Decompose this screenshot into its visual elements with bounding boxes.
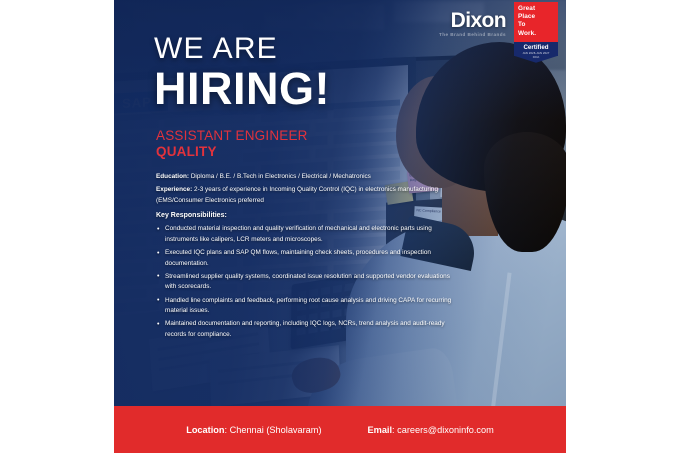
list-item: Conducted material inspection and qualit…	[156, 224, 456, 245]
brand-name: Dixon	[439, 10, 506, 31]
company-logo: Dixon The Brand Behind Brands	[439, 10, 506, 38]
email-label: Email	[368, 425, 393, 435]
job-title-line-2: QUALITY	[156, 144, 308, 160]
location-value: : Chennai (Sholavaram)	[224, 425, 321, 435]
responsibilities-title: Key Responsibilities:	[156, 210, 456, 221]
location-info: Location: Chennai (Sholavaram)	[186, 425, 321, 435]
gptw-certification-date: JAN 2026-JAN 2027	[514, 52, 558, 56]
gptw-line-3: To	[518, 21, 554, 29]
gptw-line-2: Place	[518, 13, 554, 21]
list-item: Maintained documentation and reporting, …	[156, 319, 456, 340]
experience-label: Experience:	[156, 186, 192, 193]
job-title-line-1: ASSISTANT ENGINEER	[156, 128, 308, 144]
great-place-to-work-badge: Great Place To Work. Certified JAN 2026-…	[514, 2, 558, 63]
experience-value: 2-3 years of experience in Incoming Qual…	[156, 186, 438, 203]
email-value[interactable]: : careers@dixoninfo.com	[392, 425, 494, 435]
headline-block: WE ARE HIRING!	[154, 34, 330, 112]
gptw-certified-label: Certified	[514, 42, 558, 52]
job-details: Education: Diploma / B.E. / B.Tech in El…	[156, 172, 456, 343]
headline-hiring: HIRING!	[154, 66, 330, 112]
gptw-badge-top: Great Place To Work.	[514, 2, 558, 42]
gptw-country-label: INDIA	[514, 56, 558, 63]
list-item: Streamlined supplier quality systems, co…	[156, 272, 456, 293]
gptw-line-1: Great	[518, 5, 554, 13]
location-label: Location	[186, 425, 224, 435]
job-title-block: ASSISTANT ENGINEER QUALITY	[156, 128, 308, 160]
list-item: Handled line complaints and feedback, pe…	[156, 296, 456, 317]
experience-row: Experience: 2-3 years of experience in I…	[156, 185, 456, 206]
responsibilities-list: Conducted material inspection and qualit…	[156, 224, 456, 340]
education-label: Education:	[156, 173, 189, 180]
contact-footer: Location: Chennai (Sholavaram) Email: ca…	[114, 406, 566, 453]
hiring-poster: SAP CN Log ECN Physical Register ECN Rep…	[114, 0, 566, 453]
education-value: Diploma / B.E. / B.Tech in Electronics /…	[191, 173, 371, 180]
brand-tagline: The Brand Behind Brands	[439, 33, 506, 38]
gptw-line-4: Work.	[518, 30, 554, 38]
email-info[interactable]: Email: careers@dixoninfo.com	[368, 425, 494, 435]
education-row: Education: Diploma / B.E. / B.Tech in El…	[156, 172, 456, 182]
headline-we-are: WE ARE	[154, 34, 330, 64]
list-item: Executed IQC plans and SAP QM flows, mai…	[156, 248, 456, 269]
